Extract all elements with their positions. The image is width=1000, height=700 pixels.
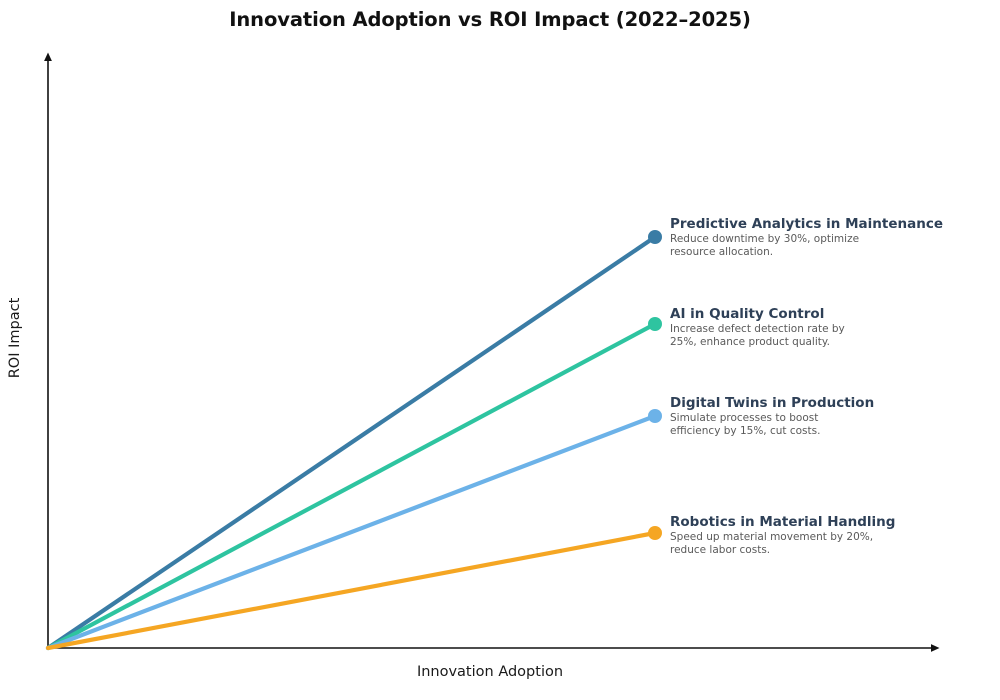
- series-annotation-2: Digital Twins in Production Simulate pro…: [670, 395, 990, 437]
- series-annotation-desc-3: Speed up material movement by 20%, reduc…: [670, 531, 990, 556]
- y-axis-title: ROI Impact: [7, 278, 23, 398]
- endpoint-marker-1[interactable]: [648, 317, 662, 331]
- series-annotation-desc-0: Reduce downtime by 30%, optimize resourc…: [670, 233, 990, 258]
- series-lines: [48, 237, 655, 648]
- series-annotation-title-0: Predictive Analytics in Maintenance: [670, 216, 990, 232]
- series-annotation-3: Robotics in Material Handling Speed up m…: [670, 514, 990, 556]
- series-annotation-desc-1: Increase defect detection rate by 25%, e…: [670, 323, 990, 348]
- series-annotation-title-2: Digital Twins in Production: [670, 395, 990, 411]
- series-annotation-1: AI in Quality Control Increase defect de…: [670, 306, 990, 348]
- x-axis-title: Innovation Adoption: [0, 664, 980, 680]
- endpoint-marker-0[interactable]: [648, 230, 662, 244]
- series-annotation-0: Predictive Analytics in Maintenance Redu…: [670, 216, 990, 258]
- series-line-3: [48, 533, 655, 648]
- endpoint-marker-2[interactable]: [648, 409, 662, 423]
- series-line-2: [48, 416, 655, 648]
- chart-container: Innovation Adoption vs ROI Impact (2022–…: [0, 0, 1000, 700]
- series-line-0: [48, 237, 655, 648]
- series-annotation-title-1: AI in Quality Control: [670, 306, 990, 322]
- series-line-1: [48, 324, 655, 648]
- series-annotation-desc-2: Simulate processes to boost efficiency b…: [670, 412, 990, 437]
- plot-area: [0, 0, 1000, 700]
- series-annotation-title-3: Robotics in Material Handling: [670, 514, 990, 530]
- series-endpoint-markers: [648, 230, 662, 540]
- endpoint-marker-3[interactable]: [648, 526, 662, 540]
